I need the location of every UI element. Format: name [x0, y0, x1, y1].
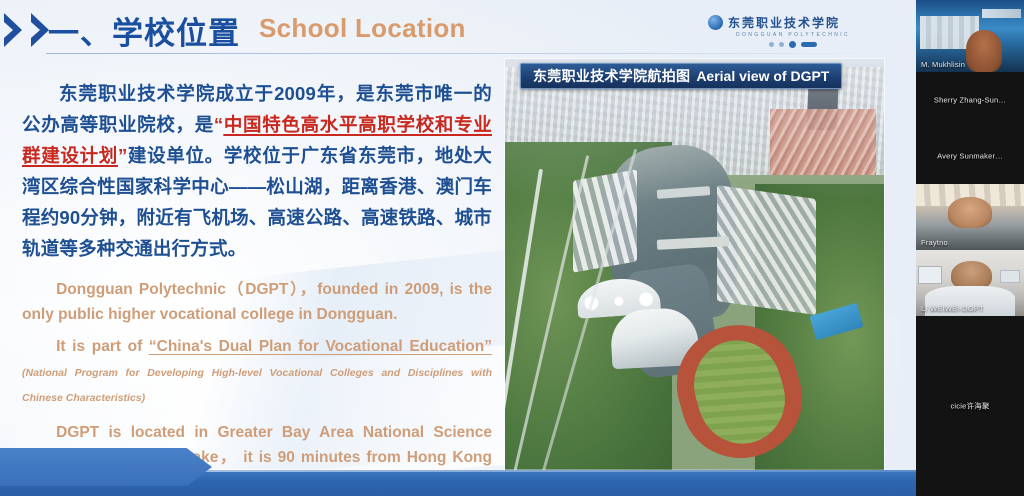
participant-tile[interactable]: M. Mukhlisin: [916, 0, 1024, 72]
header-divider: [46, 53, 884, 54]
cn-quote-open: “: [214, 114, 223, 135]
page-title-english: School Location: [259, 13, 466, 44]
screen-share-window: 一、学校位置 School Location 东莞职业技术学院 DONGGUAN…: [0, 0, 1024, 496]
participant-name: Fraytno: [921, 238, 948, 247]
slide-footer-arrow-tab: [0, 448, 212, 486]
presentation-slide: 一、学校位置 School Location 东莞职业技术学院 DONGGUAN…: [0, 0, 916, 496]
en2-underlined-quote: “China's Dual Plan for Vocational Educat…: [149, 338, 492, 355]
participant-name: Sherry Zhang-Sun…: [916, 96, 1024, 105]
participant-tile[interactable]: Sherry Zhang-Sun…: [916, 72, 1024, 128]
english-paragraph-2: It is part of “China's Dual Plan for Voc…: [22, 334, 492, 409]
photo-caption-banner: 东莞职业技术学院航拍图 Aerial view of DGPT: [520, 63, 842, 89]
participant-name: Avery Sunmaker…: [916, 152, 1024, 161]
school-logo: 东莞职业技术学院 DONGGUAN POLYTECHNIC: [708, 14, 878, 50]
logo-name-chinese: 东莞职业技术学院: [728, 14, 840, 31]
en2-lead: It is part of: [56, 338, 149, 355]
chinese-paragraph: 东莞职业技术学院成立于2009年，是东莞市唯一的公办高等职业院校，是“中国特色高…: [22, 78, 492, 264]
participant-tile[interactable]: LI WEIWEI-DGPT: [916, 250, 1024, 316]
participant-video-strip[interactable]: M. Mukhlisin Sherry Zhang-Sun… Avery Sun…: [916, 0, 1024, 496]
participant-tile[interactable]: Avery Sunmaker…: [916, 128, 1024, 184]
cn-quote-close: ”: [118, 145, 127, 166]
english-paragraph-1: Dongguan Polytechnic（DGPT），founded in 20…: [22, 277, 492, 327]
aerial-campus-photo: [505, 59, 884, 475]
photo-caption-chinese: 东莞职业技术学院航拍图: [533, 66, 690, 86]
participant-name: M. Mukhlisin: [921, 60, 965, 69]
participant-tile[interactable]: Fraytno: [916, 184, 1024, 250]
participant-name: LI WEIWEI-DGPT: [921, 304, 984, 313]
school-emblem-icon: [708, 15, 723, 30]
logo-name-english: DONGGUAN POLYTECHNIC: [708, 32, 878, 38]
page-title-chinese: 一、学校位置: [48, 8, 240, 53]
en2-parenthetical-note: (National Program for Developing High-le…: [22, 367, 492, 404]
participant-name: cicie许海聚: [916, 401, 1024, 412]
participant-tile[interactable]: cicie许海聚: [916, 316, 1024, 496]
slide-text-column: 东莞职业技术学院成立于2009年，是东莞市唯一的公办高等职业院校，是“中国特色高…: [22, 78, 492, 495]
photo-caption-english: Aerial view of DGPT: [696, 68, 829, 84]
logo-dot-decoration: [708, 41, 878, 48]
